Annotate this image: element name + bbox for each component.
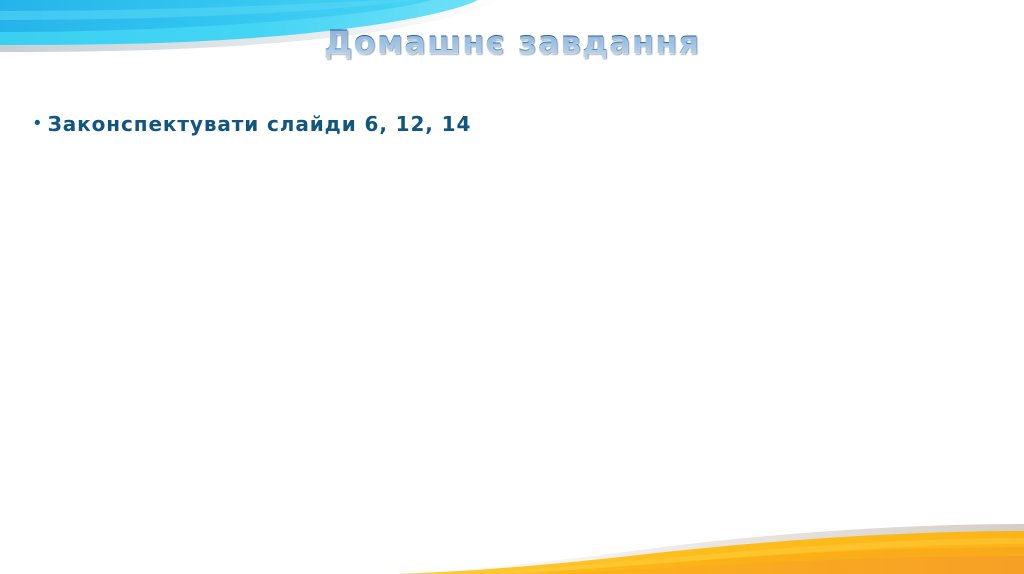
- list-item-label: Законспектувати слайди 6, 12, 14: [48, 112, 472, 136]
- bullet-dot-icon: •: [34, 114, 41, 133]
- slide-title-container: Домашнє завдання: [0, 24, 1024, 61]
- page-title: Домашнє завдання: [324, 24, 700, 61]
- presentation-slide: Домашнє завдання • Законспектувати слайд…: [0, 0, 1024, 574]
- slide-body: • Законспектувати слайди 6, 12, 14: [34, 112, 974, 136]
- list-item: • Законспектувати слайди 6, 12, 14: [34, 112, 974, 136]
- blue-wave-top-left-icon: [0, 0, 1024, 574]
